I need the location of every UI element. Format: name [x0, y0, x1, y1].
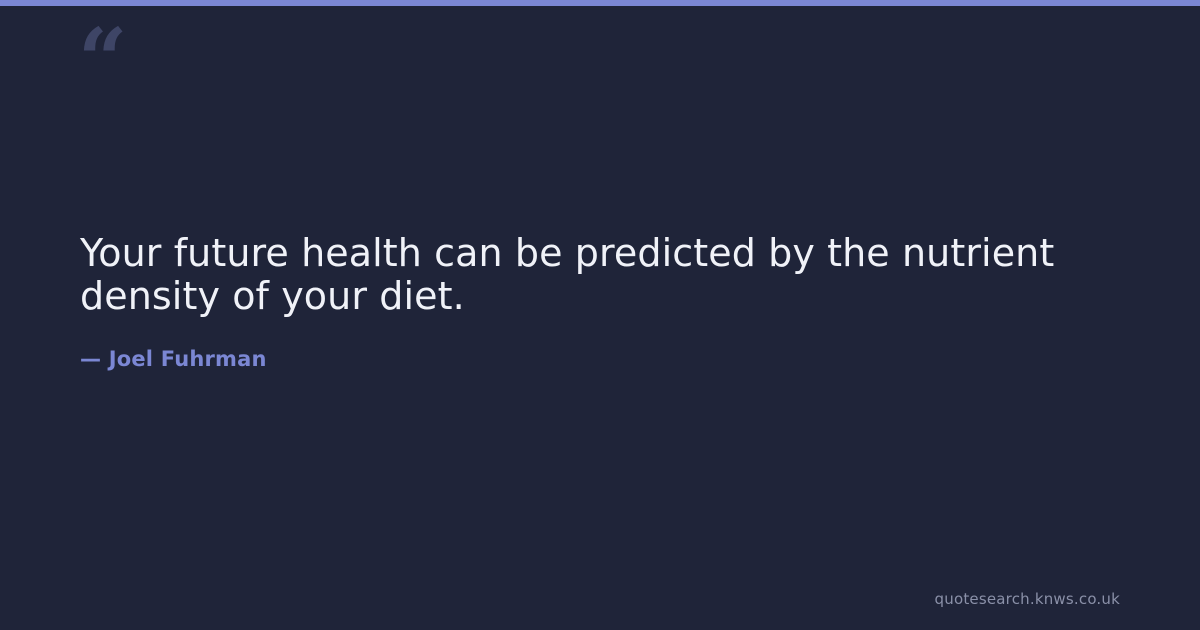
quote-text: Your future health can be predicted by t… [80, 232, 1060, 317]
site-watermark: quotesearch.knws.co.uk [935, 590, 1120, 608]
open-quote-icon: “ [78, 18, 125, 104]
quote-content-block: Your future health can be predicted by t… [80, 232, 1120, 372]
top-accent-bar [0, 0, 1200, 6]
quote-author: — Joel Fuhrman [80, 347, 1120, 372]
quote-card: “ Your future health can be predicted by… [0, 0, 1200, 630]
